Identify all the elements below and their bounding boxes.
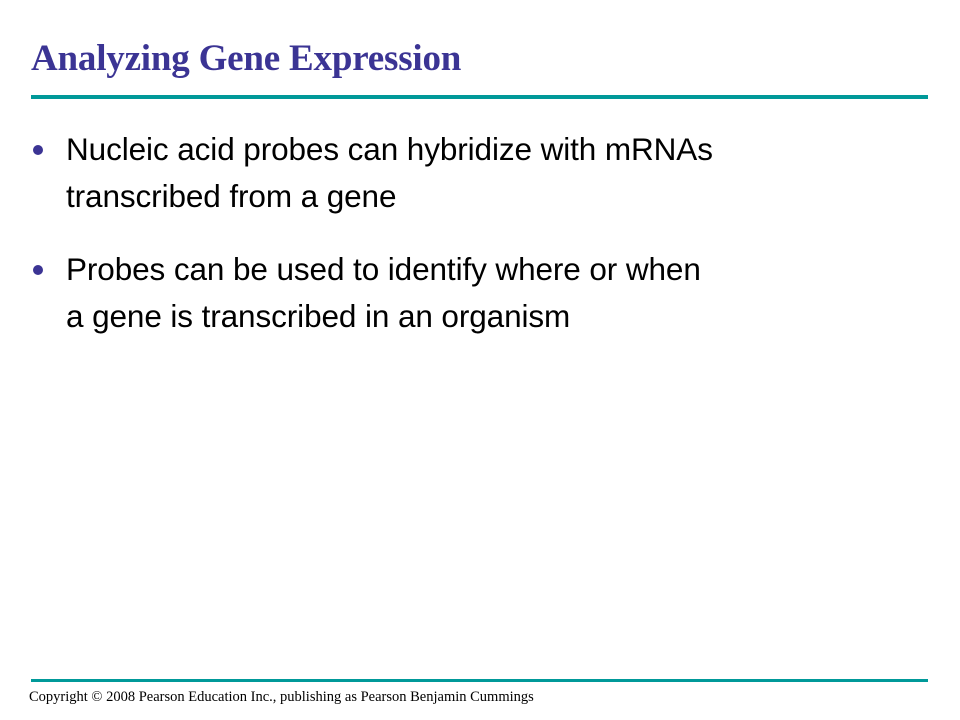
list-item-text: Nucleic acid probes can hybridize with m…: [66, 126, 928, 220]
list-item-line-2: a gene is transcribed in an organism: [66, 293, 928, 340]
list-item-text: Probes can be used to identify where or …: [66, 246, 928, 340]
list-item-line-1: Probes can be used to identify where or …: [66, 251, 701, 287]
page-title: Analyzing Gene Expression: [31, 38, 931, 80]
footer-divider-rule: [31, 679, 928, 682]
slide-canvas: Analyzing Gene Expression Nucleic acid p…: [0, 0, 960, 720]
bullet-dot-icon: [33, 265, 43, 275]
title-divider-rule: [31, 95, 928, 99]
bullet-dot-icon: [33, 145, 43, 155]
copyright-notice: Copyright © 2008 Pearson Education Inc.,…: [29, 688, 534, 706]
bullet-list: Nucleic acid probes can hybridize with m…: [28, 126, 928, 340]
list-item-line-2: transcribed from a gene: [66, 173, 928, 220]
list-item-line-1: Nucleic acid probes can hybridize with m…: [66, 131, 713, 167]
list-item: Nucleic acid probes can hybridize with m…: [28, 126, 928, 220]
list-item: Probes can be used to identify where or …: [28, 246, 928, 340]
